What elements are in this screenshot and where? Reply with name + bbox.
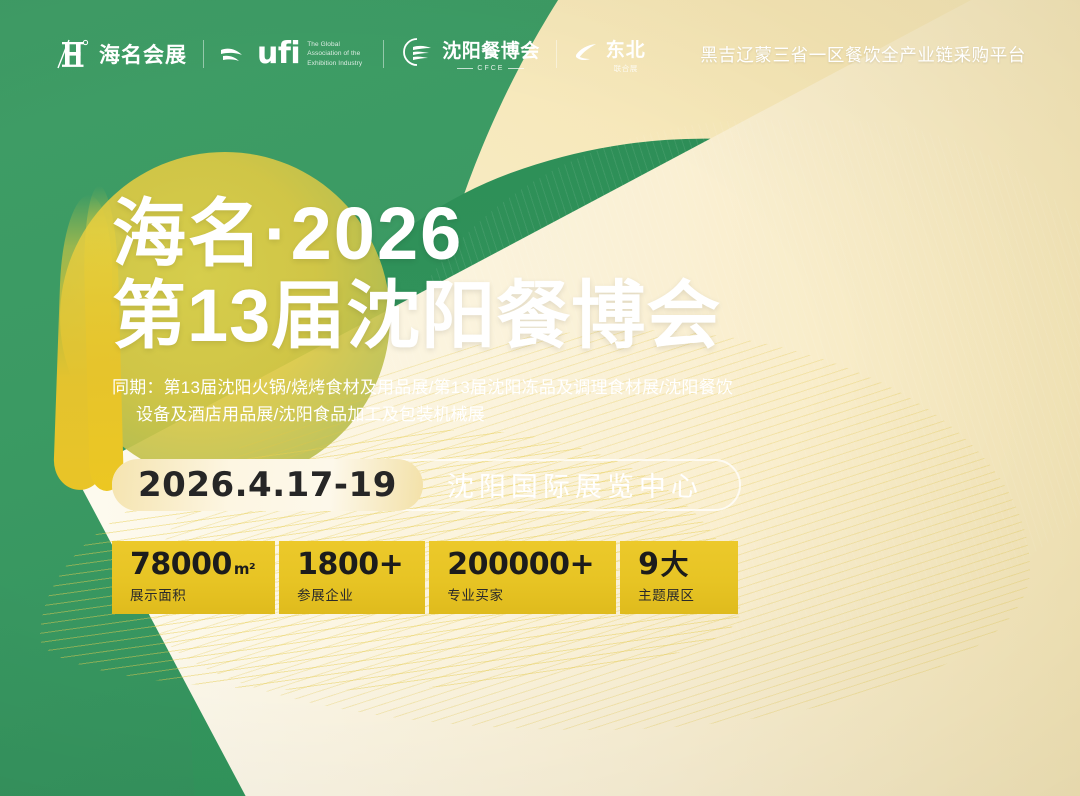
concurrent-exhibitions: 同期：第13届沈阳火锅/烧烤食材及用品展/第13届沈阳冻品及调理食材展/沈阳餐饮… [112, 374, 882, 429]
cfce-leaf-icon [400, 37, 434, 72]
logo-ufi-tagline: The Global Association of the Exhibition… [307, 40, 367, 68]
background-chopstick-accent-1 [53, 194, 115, 491]
stat-value: 78000 m² [130, 550, 255, 581]
logo-dongbei-label: 东北 [606, 35, 646, 62]
logo-divider [203, 40, 204, 68]
stat-value: 1800+ [297, 550, 405, 581]
stat-number: 200000+ [447, 550, 594, 581]
logo-cfce-label: 沈阳餐博会 [442, 36, 540, 63]
event-venue: 沈阳国际展览中心 [423, 461, 711, 509]
stat-label: 主题展区 [638, 584, 718, 604]
stat-item: 1800+ 参展企业 [279, 541, 425, 614]
dongbei-brush-icon [573, 40, 599, 69]
poster-content: 海名·2026 第13届沈阳餐博会 同期：第13届沈阳火锅/烧烤食材及用品展/第… [112, 196, 932, 614]
logo-cfce: 沈阳餐博会 CFCE [400, 36, 540, 72]
stat-unit: 大 [660, 551, 688, 580]
stat-value: 9 大 [638, 550, 718, 581]
logo-dongbei-text: 东北 联合展 [606, 35, 646, 74]
logo-cfce-abbrev: CFCE [457, 65, 524, 72]
header-tagline: 黑吉辽蒙三省一区餐饮全产业链采购平台 [700, 42, 1026, 67]
stat-item: 9 大 主题展区 [620, 541, 738, 614]
logo-cfce-text: 沈阳餐博会 CFCE [442, 36, 540, 72]
stat-number: 78000 [130, 550, 232, 581]
stat-label: 专业买家 [447, 584, 596, 604]
logo-dongbei-sub: 联合展 [614, 63, 638, 74]
logo-dongbei: 东北 联合展 [573, 35, 646, 74]
stat-label: 参展企业 [297, 584, 405, 604]
stat-item: 78000 m² 展示面积 [112, 541, 275, 614]
stat-number: 1800+ [297, 550, 403, 581]
logo-ufi-wordmark: ufi [257, 40, 300, 67]
logo-divider [383, 40, 384, 68]
stat-number: 9 [638, 550, 658, 581]
logo-haiming: 海名会展 [56, 38, 187, 70]
logo-ufi: ufi The Global Association of the Exhibi… [220, 40, 367, 68]
poster-header: 海名会展 ufi The Global Association of the E… [0, 0, 1080, 108]
date-venue-bar: 2026.4.17-19 沈阳国际展览中心 [112, 459, 741, 511]
event-title-line-1: 海名·2026 [112, 196, 932, 271]
event-title-line-2: 第13届沈阳餐博会 [112, 277, 932, 355]
logo-haiming-label: 海名会展 [99, 39, 187, 69]
stat-item: 200000+ 专业买家 [429, 541, 616, 614]
h-monogram-icon [56, 38, 90, 70]
event-poster: 海名会展 ufi The Global Association of the E… [0, 0, 1080, 796]
stats-strip: 78000 m² 展示面积 1800+ 参展企业 200000+ 专业买家 [112, 541, 932, 614]
logo-row: 海名会展 ufi The Global Association of the E… [56, 35, 646, 74]
logo-divider [556, 40, 557, 68]
stat-value: 200000+ [447, 550, 596, 581]
concurrent-prefix: 同期： [112, 378, 164, 397]
stat-unit: m² [234, 562, 255, 577]
concurrent-line-1: 第13届沈阳火锅/烧烤食材及用品展/第13届沈阳冻品及调理食材展/沈阳餐饮 [164, 378, 733, 397]
event-date: 2026.4.17-19 [112, 459, 423, 511]
ufi-swoosh-icon [220, 44, 250, 64]
concurrent-line-2: 设备及酒店用品展/沈阳食品加工及包装机械展 [112, 401, 882, 429]
stat-label: 展示面积 [130, 584, 255, 604]
